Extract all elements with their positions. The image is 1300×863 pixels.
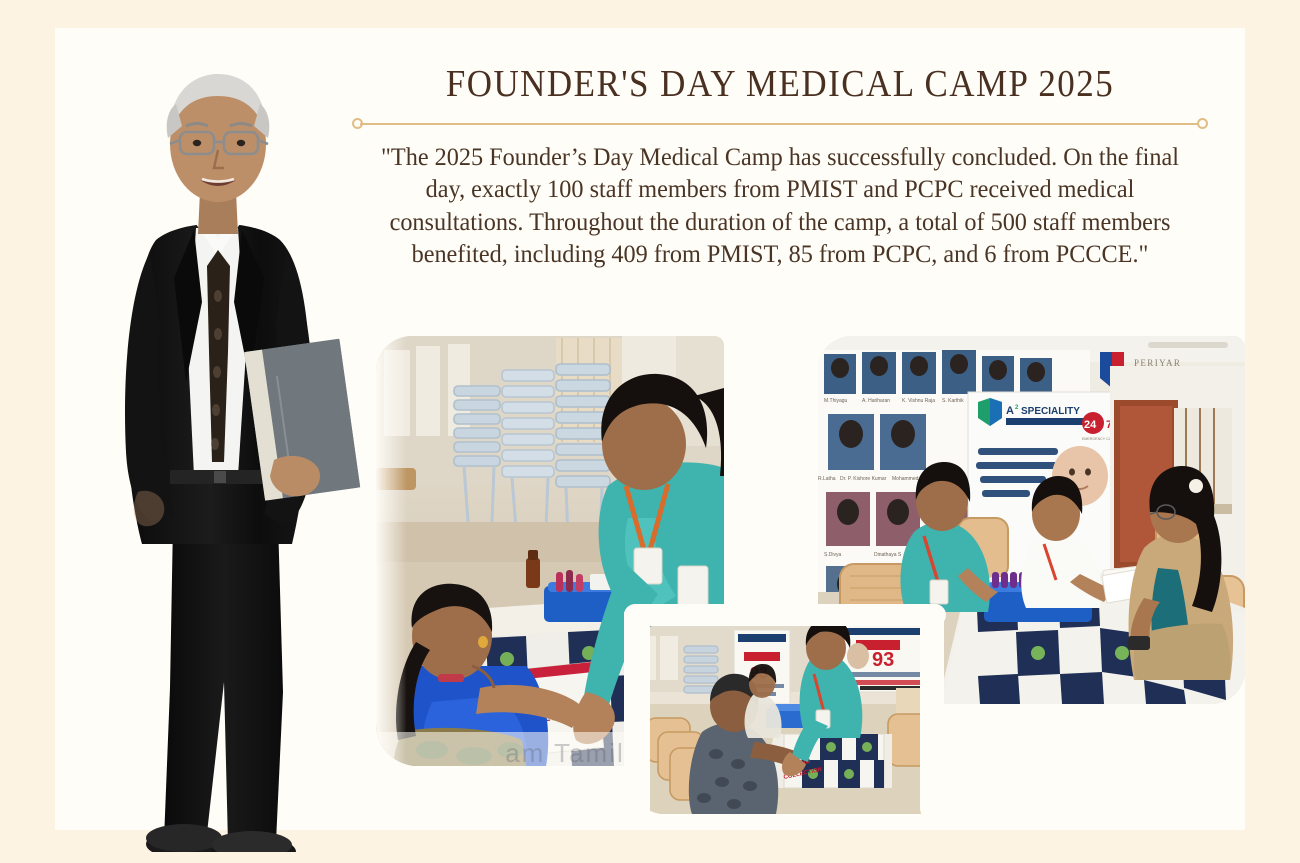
- divider-bar: [360, 123, 1200, 125]
- poster-description: "The 2025 Founder’s Day Medical Camp has…: [373, 141, 1186, 271]
- svg-text:S. Karthik: S. Karthik: [942, 398, 964, 404]
- svg-text:A. Hariharan: A. Hariharan: [862, 398, 890, 404]
- svg-text:93: 93: [872, 649, 894, 671]
- collage-notch-top: [624, 604, 946, 626]
- svg-text:K. Vishnu Raja: K. Vishnu Raja: [902, 398, 935, 404]
- poster-canvas: FOUNDER'S DAY MEDICAL CAMP 2025 "The 202…: [0, 0, 1300, 863]
- ornamental-divider: [352, 116, 1208, 132]
- svg-text:Dr. P. Kishore Kumar: Dr. P. Kishore Kumar: [840, 476, 887, 482]
- headline-block: FOUNDER'S DAY MEDICAL CAMP 2025 "The 202…: [352, 62, 1208, 271]
- svg-text:R.Latha: R.Latha: [818, 476, 836, 482]
- collage-notch-left: [624, 612, 650, 824]
- svg-text:Dinathaya S: Dinathaya S: [874, 552, 902, 558]
- svg-text:S.Divya: S.Divya: [824, 552, 841, 558]
- collage-notch-right: [920, 612, 944, 824]
- svg-text:SPECIALITY: SPECIALITY: [1021, 406, 1080, 417]
- svg-text:A: A: [1006, 405, 1014, 417]
- page-title: FOUNDER'S DAY MEDICAL CAMP 2025: [386, 62, 1174, 106]
- photo-blood-screening: 93 93: [634, 622, 936, 814]
- divider-ring-right-icon: [1197, 118, 1208, 129]
- founder-portrait: [78, 52, 378, 852]
- svg-text:24: 24: [1084, 419, 1097, 431]
- svg-text:M.Thiyagu: M.Thiyagu: [824, 398, 848, 404]
